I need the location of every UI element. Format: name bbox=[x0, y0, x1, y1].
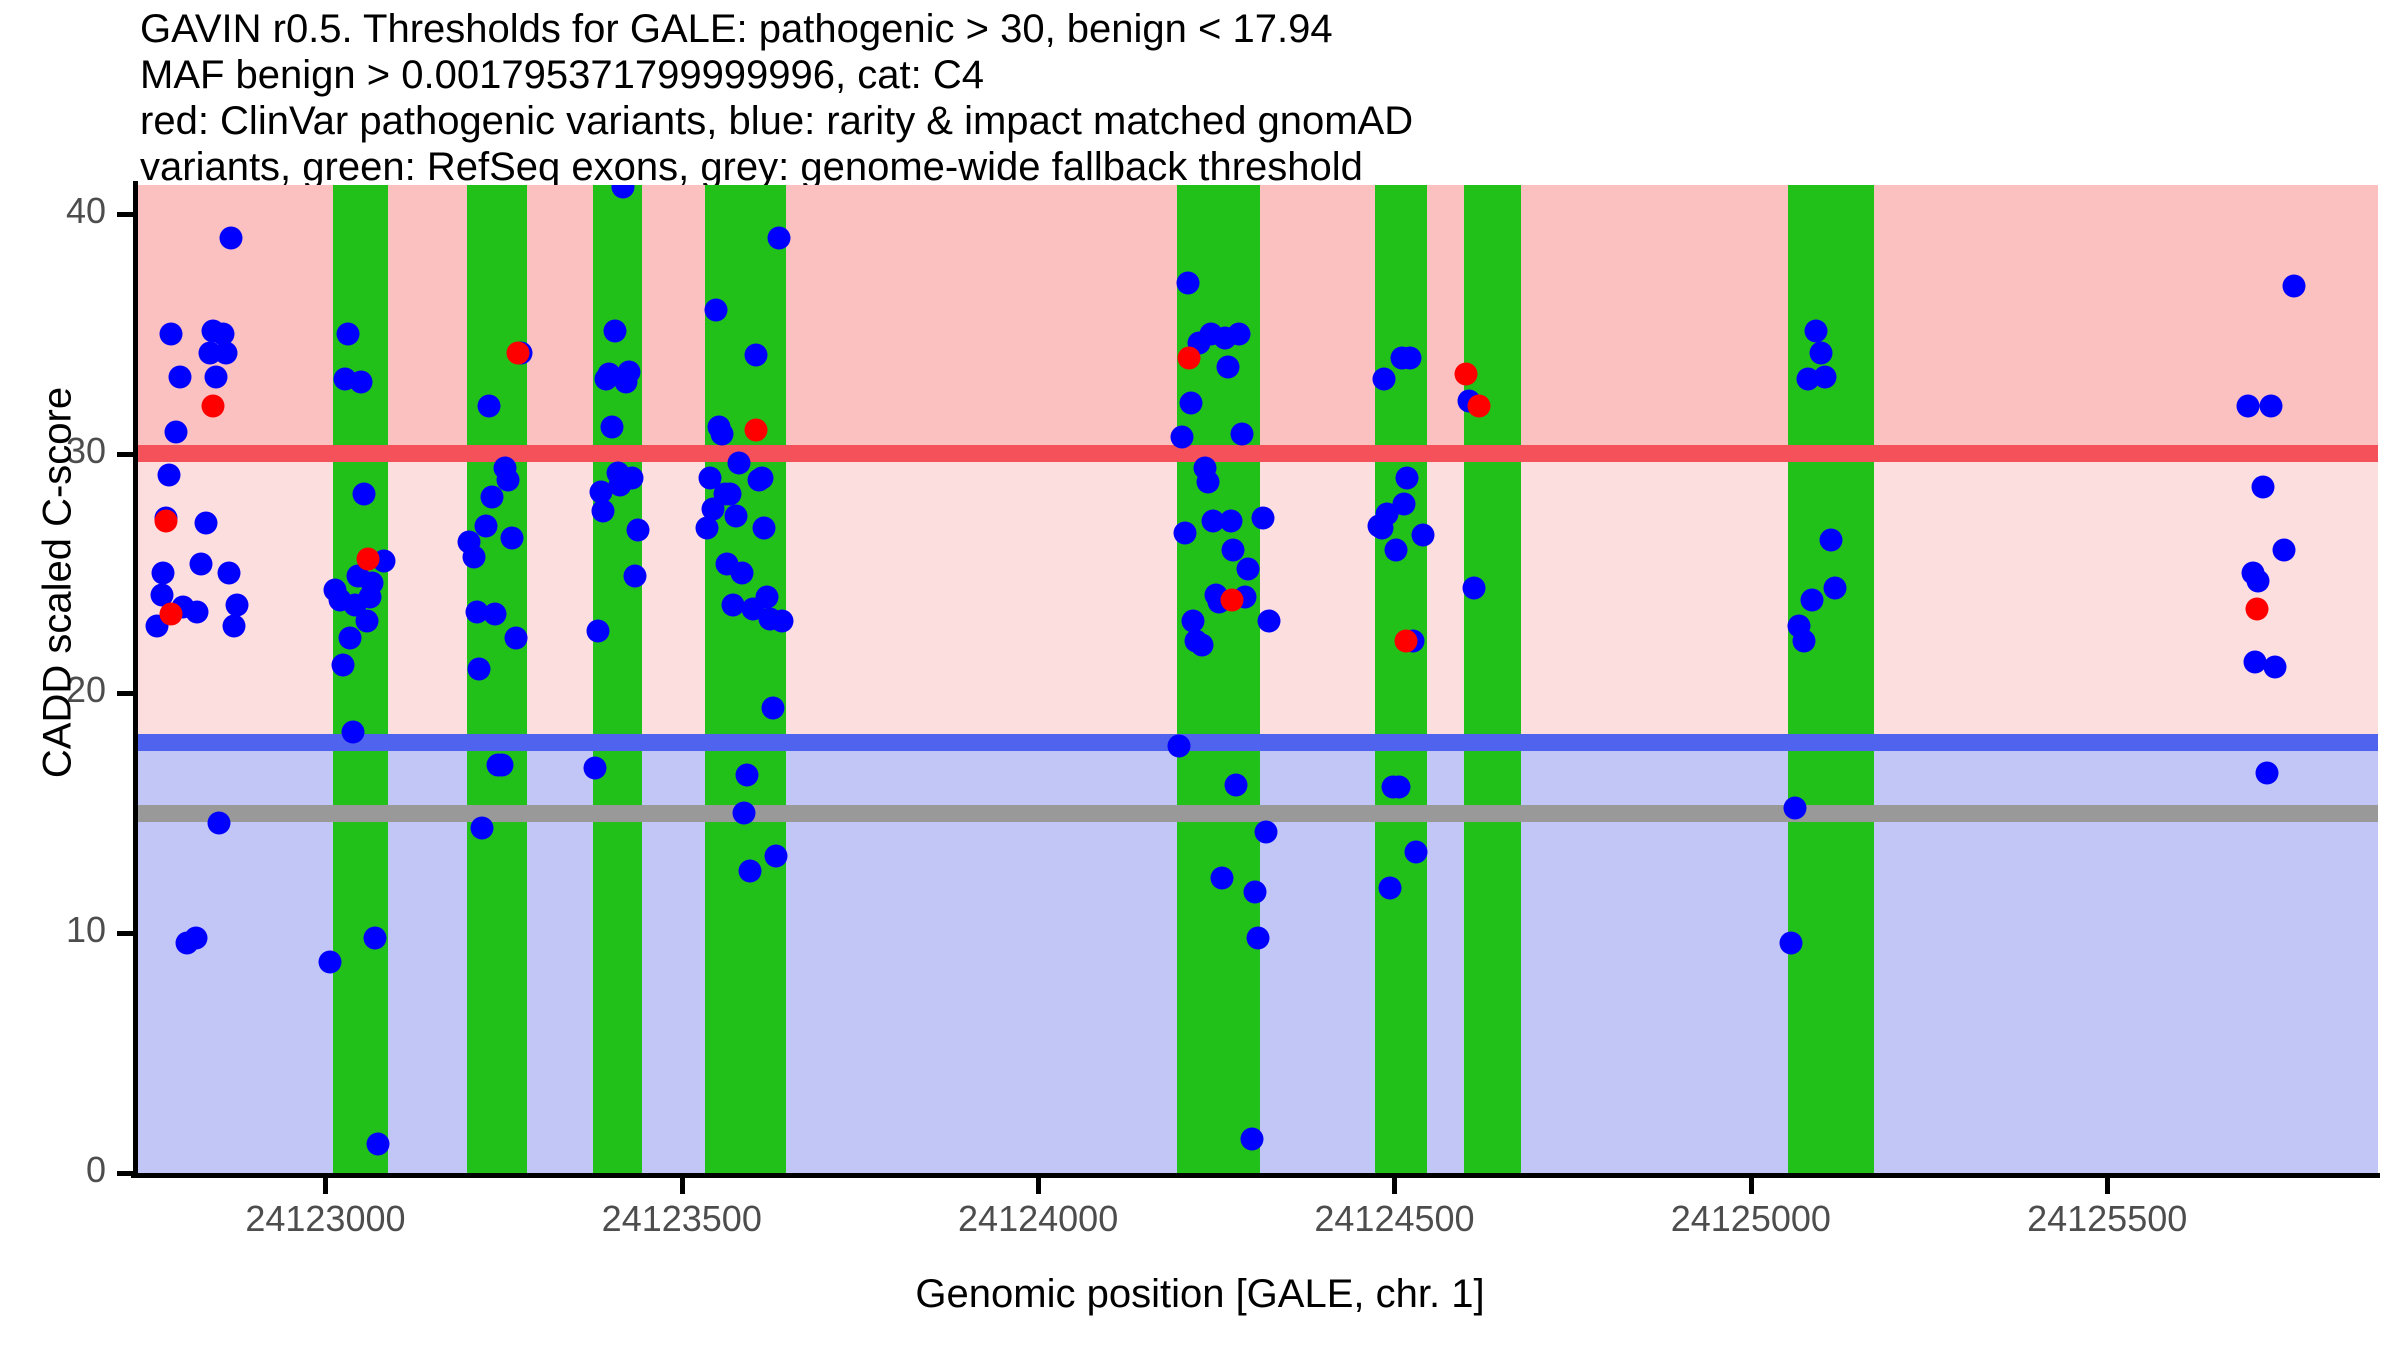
gnomad-variant-point bbox=[592, 500, 615, 523]
gnomad-variant-point bbox=[1173, 521, 1196, 544]
gnomad-variant-point bbox=[217, 562, 240, 585]
y-tick-label-40: 40 bbox=[6, 190, 106, 232]
gnomad-variant-point bbox=[1384, 538, 1407, 561]
refseq-exon-8 bbox=[1788, 185, 1874, 1173]
gnomad-variant-point bbox=[2282, 274, 2305, 297]
gnomad-variant-point bbox=[2247, 569, 2270, 592]
x-tick-mark-24124500 bbox=[1392, 1178, 1397, 1194]
gnomad-variant-point bbox=[1805, 320, 1828, 343]
gnomad-variant-point bbox=[496, 468, 519, 491]
gnomad-variant-point bbox=[2264, 656, 2287, 679]
gnomad-variant-point bbox=[704, 298, 727, 321]
gnomad-variant-point bbox=[361, 572, 384, 595]
gnomad-variant-point bbox=[1219, 509, 1242, 532]
gnomad-variant-point bbox=[1255, 821, 1278, 844]
gnomad-variant-point bbox=[767, 226, 790, 249]
chart-root: GAVIN r0.5. Thresholds for GALE: pathoge… bbox=[0, 0, 2400, 1350]
gnomad-variant-point bbox=[2272, 538, 2295, 561]
x-tick-label-24124000: 24124000 bbox=[958, 1198, 1118, 1240]
gnomad-variant-point bbox=[350, 370, 373, 393]
gnomad-variant-point bbox=[739, 859, 762, 882]
gnomad-variant-point bbox=[626, 519, 649, 542]
clinvar-variant-point bbox=[154, 509, 177, 532]
clinvar-variant-point bbox=[1454, 363, 1477, 386]
gnomad-variant-point bbox=[750, 466, 773, 489]
x-tick-label-24124500: 24124500 bbox=[1314, 1198, 1474, 1240]
gnomad-variant-point bbox=[1171, 425, 1194, 448]
gnomad-variant-point bbox=[364, 926, 387, 949]
x-tick-label-24125500: 24125500 bbox=[2027, 1198, 2187, 1240]
gnomad-variant-point bbox=[204, 365, 227, 388]
gnomad-variant-point bbox=[1819, 528, 1842, 551]
gnomad-variant-point bbox=[603, 320, 626, 343]
gnomad-variant-point bbox=[764, 845, 787, 868]
gnomad-variant-point bbox=[190, 552, 213, 575]
x-tick-mark-24124000 bbox=[1036, 1178, 1041, 1194]
gnomad-variant-point bbox=[355, 610, 378, 633]
clinvar-variant-point bbox=[201, 394, 224, 417]
gnomad-variant-point bbox=[367, 1133, 390, 1156]
clinvar-variant-point bbox=[744, 418, 767, 441]
gnomad-variant-point bbox=[341, 720, 364, 743]
gnomad-variant-point bbox=[724, 504, 747, 527]
y-tick-mark-30 bbox=[117, 452, 133, 457]
gnomad-variant-point bbox=[600, 416, 623, 439]
gnomad-variant-point bbox=[160, 322, 183, 345]
plot-canvas bbox=[133, 185, 2378, 1173]
x-tick-mark-24123000 bbox=[323, 1178, 328, 1194]
x-tick-label-24123000: 24123000 bbox=[245, 1198, 405, 1240]
gnomad-variant-point bbox=[471, 816, 494, 839]
gnomad-variant-point bbox=[719, 483, 742, 506]
gnomad-variant-point bbox=[186, 600, 209, 623]
y-tick-mark-0 bbox=[117, 1171, 133, 1176]
gnomad-variant-point bbox=[184, 926, 207, 949]
gnomad-variant-point bbox=[220, 226, 243, 249]
clinvar-variant-point bbox=[506, 341, 529, 364]
gnomad-variant-point bbox=[1809, 341, 1832, 364]
fallback-threshold-line bbox=[133, 805, 2378, 822]
benign-threshold-line bbox=[133, 734, 2378, 751]
gnomad-variant-point bbox=[2260, 394, 2283, 417]
clinvar-variant-point bbox=[1178, 346, 1201, 369]
gnomad-variant-point bbox=[337, 322, 360, 345]
x-tick-mark-24125500 bbox=[2105, 1178, 2110, 1194]
gnomad-variant-point bbox=[620, 466, 643, 489]
refseq-exon-6 bbox=[1375, 185, 1427, 1173]
x-tick-label-24125000: 24125000 bbox=[1671, 1198, 1831, 1240]
gnomad-variant-point bbox=[1179, 392, 1202, 415]
gnomad-variant-point bbox=[1399, 346, 1422, 369]
gnomad-variant-point bbox=[338, 627, 361, 650]
gnomad-variant-point bbox=[1393, 492, 1416, 515]
gnomad-variant-point bbox=[1463, 576, 1486, 599]
title-line-2: MAF benign > 0.001795371799999996, cat: … bbox=[140, 52, 2340, 98]
gnomad-variant-point bbox=[762, 696, 785, 719]
gnomad-variant-point bbox=[1243, 881, 1266, 904]
y-axis-title: CADD scaled C-score bbox=[36, 233, 81, 933]
y-tick-mark-40 bbox=[117, 212, 133, 217]
gnomad-variant-point bbox=[1396, 466, 1419, 489]
pathogenic-threshold-line bbox=[133, 445, 2378, 462]
gnomad-variant-point bbox=[1168, 735, 1191, 758]
gnomad-variant-point bbox=[1779, 931, 1802, 954]
y-tick-mark-10 bbox=[117, 931, 133, 936]
gnomad-variant-point bbox=[1191, 634, 1214, 657]
gnomad-variant-point bbox=[1252, 507, 1275, 530]
chart-title-block: GAVIN r0.5. Thresholds for GALE: pathoge… bbox=[140, 6, 2340, 190]
gnomad-variant-point bbox=[727, 452, 750, 475]
refseq-exon-7 bbox=[1464, 185, 1521, 1173]
gnomad-variant-point bbox=[505, 627, 528, 650]
gnomad-variant-point bbox=[1792, 629, 1815, 652]
gnomad-variant-point bbox=[586, 620, 609, 643]
gnomad-variant-point bbox=[352, 483, 375, 506]
refseq-exon-4 bbox=[705, 185, 786, 1173]
gnomad-variant-point bbox=[207, 811, 230, 834]
gnomad-variant-point bbox=[2251, 476, 2274, 499]
gnomad-variant-point bbox=[318, 950, 341, 973]
y-tick-label-0: 0 bbox=[6, 1149, 106, 1191]
gnomad-variant-point bbox=[1230, 423, 1253, 446]
gnomad-variant-point bbox=[583, 756, 606, 779]
gnomad-variant-point bbox=[1801, 588, 1824, 611]
gnomad-variant-point bbox=[501, 526, 524, 549]
gnomad-variant-point bbox=[157, 464, 180, 487]
gnomad-variant-point bbox=[491, 754, 514, 777]
gnomad-variant-point bbox=[468, 658, 491, 681]
clinvar-variant-point bbox=[2245, 598, 2268, 621]
gnomad-variant-point bbox=[462, 545, 485, 568]
clinvar-variant-point bbox=[1220, 588, 1243, 611]
gnomad-variant-point bbox=[169, 365, 192, 388]
title-line-1: GAVIN r0.5. Thresholds for GALE: pathoge… bbox=[140, 6, 2340, 52]
gnomad-variant-point bbox=[730, 562, 753, 585]
gnomad-variant-point bbox=[1225, 773, 1248, 796]
gnomad-variant-point bbox=[1196, 471, 1219, 494]
gnomad-variant-point bbox=[744, 344, 767, 367]
gnomad-variant-point bbox=[1240, 1128, 1263, 1151]
gnomad-variant-point bbox=[223, 615, 246, 638]
gnomad-variant-point bbox=[2255, 761, 2278, 784]
gnomad-variant-point bbox=[756, 586, 779, 609]
gnomad-variant-point bbox=[1387, 775, 1410, 798]
gnomad-variant-point bbox=[623, 564, 646, 587]
gnomad-variant-point bbox=[1404, 840, 1427, 863]
gnomad-variant-point bbox=[214, 341, 237, 364]
gnomad-variant-point bbox=[618, 361, 641, 384]
clinvar-variant-point bbox=[357, 548, 380, 571]
gnomad-variant-point bbox=[1228, 322, 1251, 345]
gnomad-variant-point bbox=[1379, 876, 1402, 899]
x-axis-title: Genomic position [GALE, chr. 1] bbox=[0, 1272, 2400, 1317]
clinvar-variant-point bbox=[160, 603, 183, 626]
gnomad-variant-point bbox=[194, 512, 217, 535]
title-line-3: red: ClinVar pathogenic variants, blue: … bbox=[140, 98, 2340, 144]
gnomad-variant-point bbox=[1813, 365, 1836, 388]
gnomad-variant-point bbox=[331, 653, 354, 676]
gnomad-variant-point bbox=[710, 423, 733, 446]
gnomad-variant-point bbox=[753, 516, 776, 539]
clinvar-variant-point bbox=[1467, 394, 1490, 417]
gnomad-variant-point bbox=[736, 763, 759, 786]
gnomad-variant-point bbox=[151, 562, 174, 585]
x-tick-label-24123500: 24123500 bbox=[602, 1198, 762, 1240]
plot-panel bbox=[133, 185, 2378, 1173]
x-tick-mark-24123500 bbox=[680, 1178, 685, 1194]
gnomad-variant-point bbox=[226, 593, 249, 616]
gnomad-variant-point bbox=[1246, 926, 1269, 949]
gnomad-variant-point bbox=[1211, 867, 1234, 890]
y-tick-mark-20 bbox=[117, 691, 133, 696]
y-axis-line bbox=[133, 181, 138, 1177]
x-axis-line bbox=[131, 1173, 2380, 1178]
gnomad-variant-point bbox=[733, 802, 756, 825]
gnomad-variant-point bbox=[1176, 272, 1199, 295]
x-tick-mark-24125000 bbox=[1749, 1178, 1754, 1194]
gnomad-variant-point bbox=[1411, 524, 1434, 547]
gnomad-variant-point bbox=[164, 421, 187, 444]
clinvar-variant-point bbox=[1394, 629, 1417, 652]
gnomad-variant-point bbox=[1823, 576, 1846, 599]
gnomad-variant-point bbox=[1784, 797, 1807, 820]
gnomad-variant-point bbox=[770, 610, 793, 633]
gnomad-variant-point bbox=[475, 514, 498, 537]
gnomad-variant-point bbox=[484, 603, 507, 626]
gnomad-variant-point bbox=[478, 394, 501, 417]
gnomad-variant-point bbox=[1258, 610, 1281, 633]
gnomad-variant-point bbox=[1216, 356, 1239, 379]
gnomad-variant-point bbox=[1236, 557, 1259, 580]
gnomad-variant-point bbox=[2237, 394, 2260, 417]
gnomad-variant-point bbox=[1373, 368, 1396, 391]
title-line-4: variants, green: RefSeq exons, grey: gen… bbox=[140, 144, 2340, 190]
